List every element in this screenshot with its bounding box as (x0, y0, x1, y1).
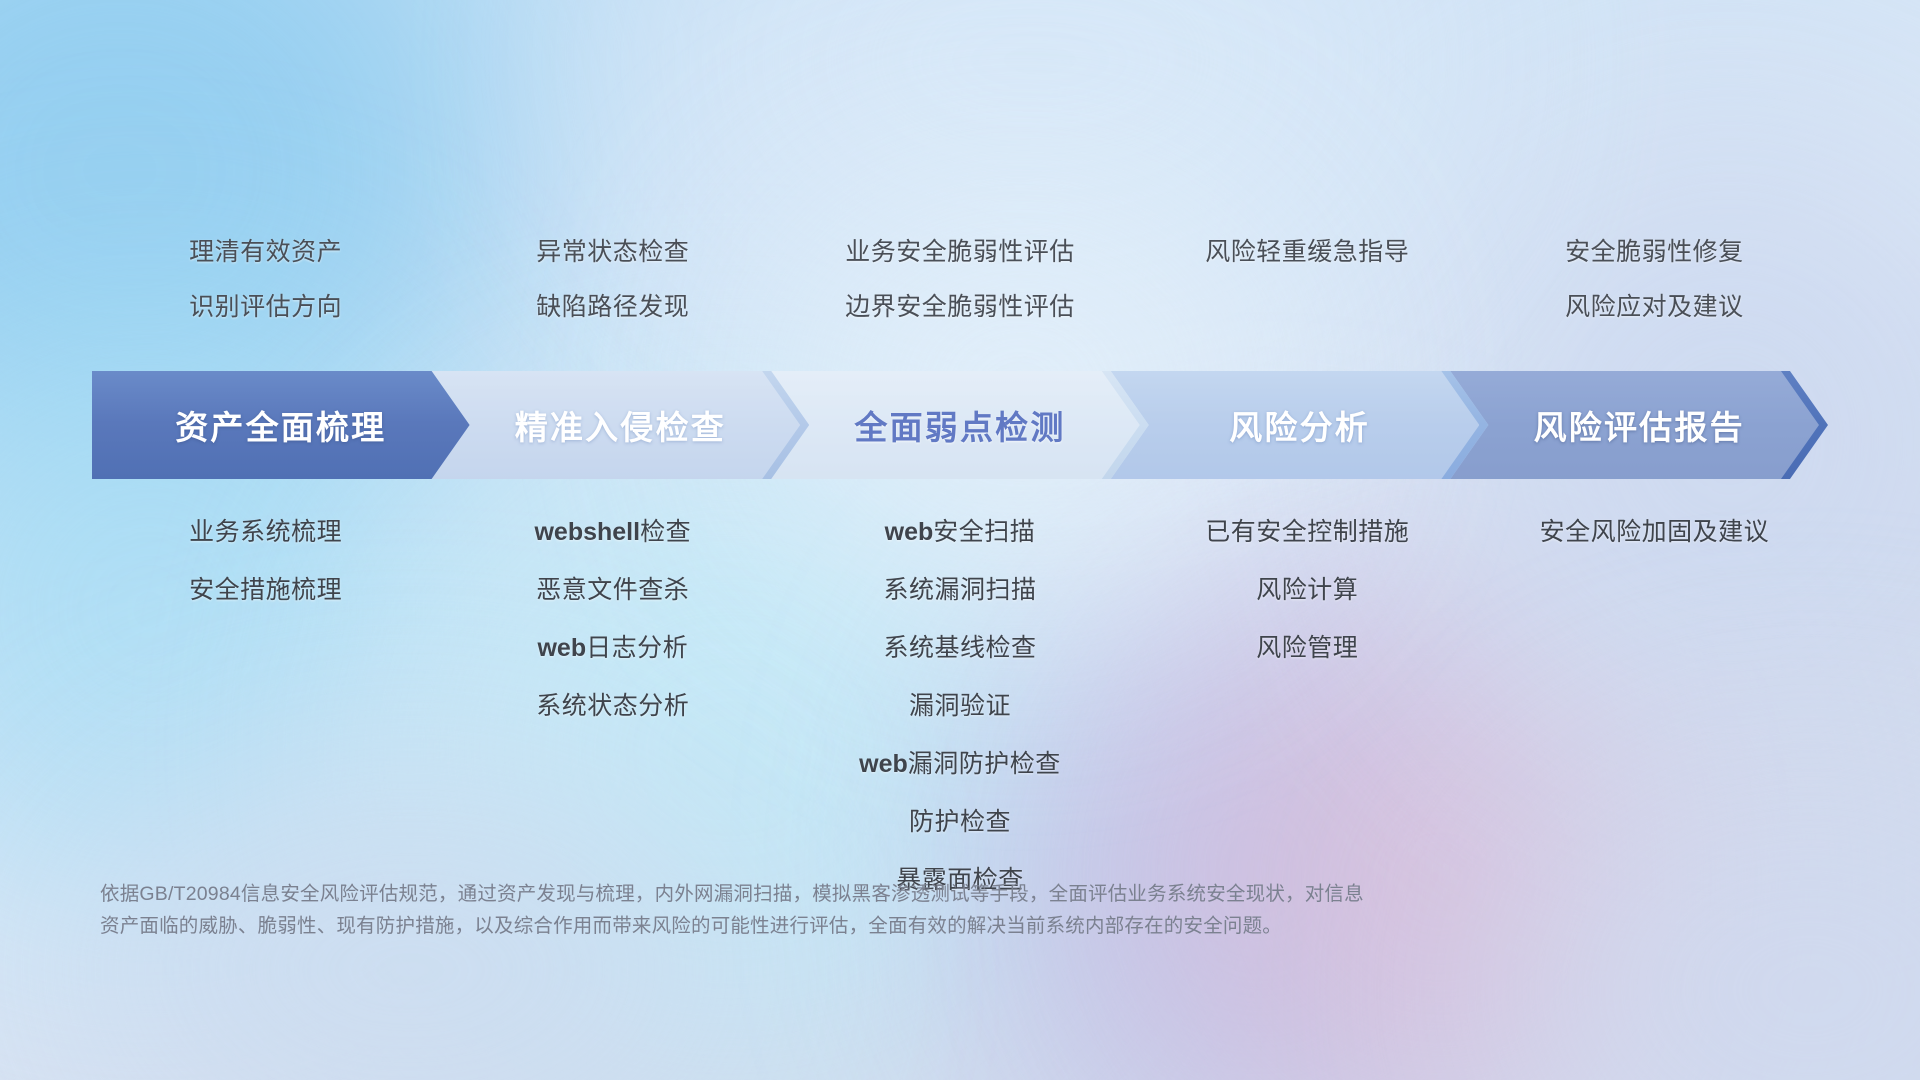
chevron-label: 精准入侵检查 (515, 401, 726, 449)
bottom-item: 风险计算 (1256, 570, 1358, 606)
bottom-item-cjk: 风险管理 (1256, 634, 1358, 662)
footer-note: 依据GB/T20984信息安全风险评估规范，通过资产发现与梳理，内外网漏洞扫描，… (100, 878, 1660, 942)
bottom-item-cjk: 防护检查 (909, 808, 1011, 836)
top-item: 安全脆弱性修复 (1565, 232, 1744, 268)
chevron-asset-inventory[interactable]: 资产全面梳理 (92, 371, 470, 479)
bottom-item: 安全措施梳理 (189, 570, 342, 606)
top-item: 业务安全脆弱性评估 (845, 232, 1075, 268)
footer-line-2: 资产面临的威胁、脆弱性、现有防护措施，以及综合作用而带来风险的可能性进行评估，全… (100, 910, 1660, 942)
top-item: 边界安全脆弱性评估 (845, 287, 1075, 323)
bottom-item-cjk: 恶意文件查杀 (536, 576, 689, 604)
bottom-item: web安全扫描 (885, 512, 1036, 548)
bottom-item: 业务系统梳理 (189, 512, 342, 548)
process-chevron-band: 资产全面梳理精准入侵检查全面弱点检测风险分析风险评估报告 (92, 371, 1828, 479)
top-item: 风险轻重缓急指导 (1205, 232, 1409, 268)
bottom-item: 防护检查 (909, 802, 1011, 838)
bottom-item: 系统状态分析 (536, 686, 689, 722)
top-column-asset-inventory: 理清有效资产识别评估方向 (92, 232, 439, 323)
chevron-label: 风险分析 (1229, 401, 1370, 449)
top-item: 识别评估方向 (189, 287, 342, 323)
bottom-item-latin: web (859, 750, 908, 778)
bottom-item: 系统漏洞扫描 (883, 570, 1036, 606)
chevron-risk-analysis[interactable]: 风险分析 (1111, 371, 1489, 479)
bottom-item: web漏洞防护检查 (859, 744, 1061, 780)
bottom-item: 恶意文件查杀 (536, 570, 689, 606)
bottom-item-cjk: 安全措施梳理 (189, 576, 342, 604)
bottom-item-latin: web (885, 518, 934, 546)
bottom-column-intrusion-check: webshell检查恶意文件查杀web日志分析系统状态分析 (439, 512, 786, 896)
top-descriptor-row: 理清有效资产识别评估方向 异常状态检查缺陷路径发现 业务安全脆弱性评估边界安全脆… (92, 232, 1828, 323)
bottom-item-cjk: 业务系统梳理 (189, 518, 342, 546)
top-item: 缺陷路径发现 (536, 287, 689, 323)
bottom-column-risk-analysis: 已有安全控制措施风险计算风险管理 (1134, 512, 1481, 896)
top-item: 风险应对及建议 (1565, 287, 1744, 323)
chevron-intrusion-check[interactable]: 精准入侵检查 (432, 371, 810, 479)
bottom-descriptor-row: 业务系统梳理安全措施梳理 webshell检查恶意文件查杀web日志分析系统状态… (92, 512, 1828, 896)
bottom-item-cjk: 系统状态分析 (536, 692, 689, 720)
bottom-item-cjk: 已有安全控制措施 (1205, 518, 1409, 546)
bottom-item: 安全风险加固及建议 (1540, 512, 1770, 548)
bottom-column-asset-inventory: 业务系统梳理安全措施梳理 (92, 512, 439, 896)
footer-line-1: 依据GB/T20984信息安全风险评估规范，通过资产发现与梳理，内外网漏洞扫描，… (100, 878, 1660, 910)
bottom-item-cjk: 系统基线检查 (883, 634, 1036, 662)
bottom-column-weakness-detection: web安全扫描系统漏洞扫描系统基线检查漏洞验证web漏洞防护检查防护检查暴露面检… (786, 512, 1133, 896)
bottom-item: 风险管理 (1256, 628, 1358, 664)
bottom-item-cjk: 检查 (640, 518, 691, 546)
top-column-assessment-report: 安全脆弱性修复风险应对及建议 (1481, 232, 1828, 323)
bottom-item-cjk: 漏洞验证 (909, 692, 1011, 720)
top-item: 异常状态检查 (536, 232, 689, 268)
bottom-item-cjk: 安全扫描 (933, 518, 1035, 546)
bottom-item: 已有安全控制措施 (1205, 512, 1409, 548)
bottom-item-latin: webshell (534, 518, 640, 546)
bottom-column-assessment-report: 安全风险加固及建议 (1481, 512, 1828, 896)
bottom-item-cjk: 风险计算 (1256, 576, 1358, 604)
chevron-assessment-report[interactable]: 风险评估报告 (1450, 371, 1828, 479)
top-column-weakness-detection: 业务安全脆弱性评估边界安全脆弱性评估 (786, 232, 1133, 323)
chevron-label: 风险评估报告 (1534, 401, 1745, 449)
bottom-item-latin: web (537, 634, 586, 662)
bottom-item: web日志分析 (537, 628, 688, 664)
bottom-item: webshell检查 (534, 512, 691, 548)
top-item: 理清有效资产 (189, 232, 342, 268)
bottom-item-cjk: 漏洞防护检查 (908, 750, 1061, 778)
bottom-item-cjk: 系统漏洞扫描 (883, 576, 1036, 604)
top-column-intrusion-check: 异常状态检查缺陷路径发现 (439, 232, 786, 323)
infographic-sheet: 理清有效资产识别评估方向 异常状态检查缺陷路径发现 业务安全脆弱性评估边界安全脆… (0, 0, 1920, 1080)
bottom-item-cjk: 安全风险加固及建议 (1540, 518, 1770, 546)
bottom-item: 漏洞验证 (909, 686, 1011, 722)
chevron-weakness-detection[interactable]: 全面弱点检测 (771, 371, 1149, 479)
chevron-label: 全面弱点检测 (854, 401, 1065, 449)
bottom-item-cjk: 日志分析 (586, 634, 688, 662)
chevron-label: 资产全面梳理 (175, 401, 386, 449)
bottom-item: 系统基线检查 (883, 628, 1036, 664)
top-column-risk-analysis: 风险轻重缓急指导 (1134, 232, 1481, 323)
